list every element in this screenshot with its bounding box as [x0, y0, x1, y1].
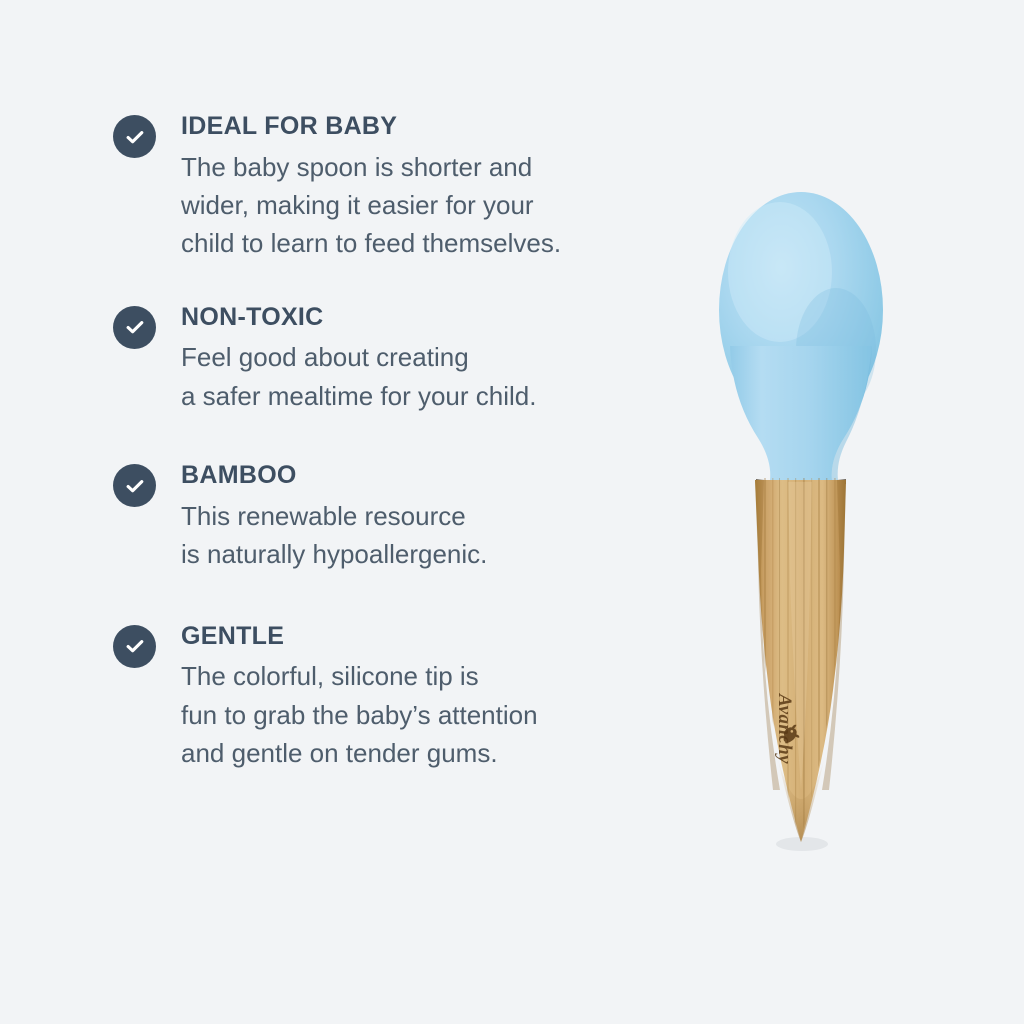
- feature-title: BAMBOO: [181, 461, 643, 491]
- feature-title: GENTLE: [181, 622, 643, 652]
- check-circle-icon: [113, 464, 156, 507]
- feature-item-gentle: GENTLE The colorful, silicone tip is fun…: [113, 622, 643, 773]
- feature-description-line: The baby spoon is shorter and: [181, 148, 643, 186]
- feature-description-line: This renewable resource: [181, 497, 643, 535]
- feature-item-ideal-for-baby: IDEAL FOR BABY The baby spoon is shorter…: [113, 112, 643, 263]
- feature-title: IDEAL FOR BABY: [181, 112, 643, 142]
- feature-description-line: is naturally hypoallergenic.: [181, 535, 643, 573]
- feature-description-line: fun to grab the baby’s attention: [181, 696, 643, 734]
- feature-description-line: The colorful, silicone tip is: [181, 657, 643, 695]
- feature-title: NON-TOXIC: [181, 303, 643, 333]
- product-image-baby-spoon: [660, 150, 940, 880]
- infographic-canvas: IDEAL FOR BABY The baby spoon is shorter…: [0, 0, 1024, 1024]
- check-circle-icon: [113, 306, 156, 349]
- check-circle-icon: [113, 115, 156, 158]
- feature-item-bamboo: BAMBOO This renewable resource is natura…: [113, 461, 643, 573]
- feature-description-line: child to learn to feed themselves.: [181, 224, 643, 262]
- feature-description-line: wider, making it easier for your: [181, 186, 643, 224]
- feature-description: This renewable resource is naturally hyp…: [181, 497, 643, 574]
- feature-description-line: and gentle on tender gums.: [181, 734, 643, 772]
- check-circle-icon: [113, 625, 156, 668]
- feature-description: Feel good about creating a safer mealtim…: [181, 338, 643, 415]
- feature-description: The colorful, silicone tip is fun to gra…: [181, 657, 643, 772]
- feature-item-non-toxic: NON-TOXIC Feel good about creating a saf…: [113, 303, 643, 415]
- feature-description: The baby spoon is shorter and wider, mak…: [181, 148, 643, 263]
- feature-description-line: Feel good about creating: [181, 338, 643, 376]
- feature-list: IDEAL FOR BABY The baby spoon is shorter…: [113, 112, 643, 773]
- feature-description-line: a safer mealtime for your child.: [181, 377, 643, 415]
